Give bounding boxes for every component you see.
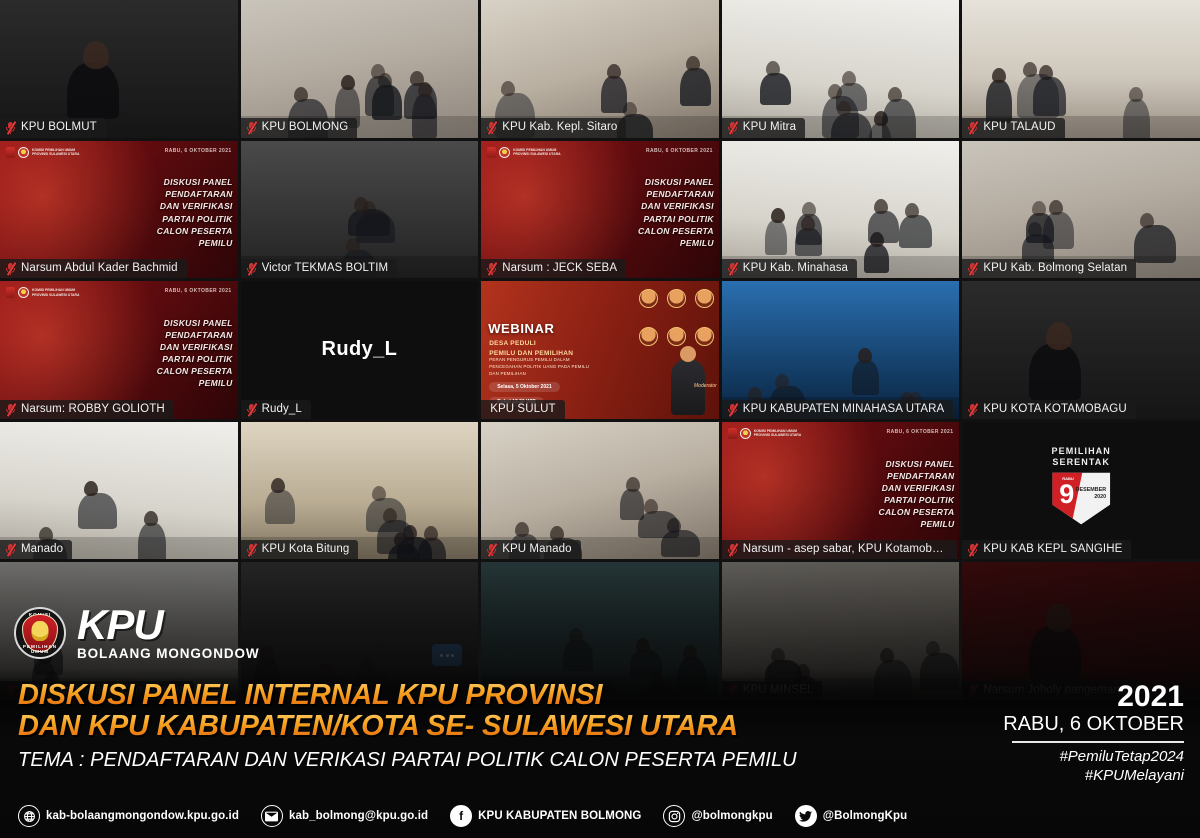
participant-name-label: KPU Manado (481, 540, 580, 559)
participant-name-label: Narsum: ROBBY GOLIOTH (0, 400, 174, 419)
participant-name-label: KPU KABUPATEN MINAHASA UTARA (722, 400, 954, 419)
banner-title-line1: DISKUSI PANEL INTERNAL KPU PROVINSI (18, 680, 797, 711)
video-frame-content (962, 0, 1200, 138)
self-view-name: Rudy_L (241, 281, 479, 419)
slide-text: DISKUSI PANELPENDAFTARANDAN VERIFIKASIPA… (845, 458, 954, 530)
video-tile[interactable]: KPU KOTA KOTAMOBAGU (962, 281, 1200, 419)
slide-date: RABU, 6 OKTOBER 2021 (887, 429, 954, 435)
video-frame-content (962, 141, 1200, 279)
participant-name-label: KPU Mitra (722, 118, 805, 137)
participant-name-label: KPU KAB KEPL SANGIHE (962, 540, 1131, 559)
video-tile[interactable]: KPU TALAUD (962, 0, 1200, 138)
video-frame-content (962, 281, 1200, 419)
video-tile[interactable]: KPU Kota Bitung (241, 422, 479, 560)
social-link-envelope[interactable]: kab_bolmong@kpu.go.id (261, 805, 428, 827)
mic-muted-icon (246, 262, 257, 275)
video-tile[interactable]: KPU BOLMUT (0, 0, 238, 138)
banner-hashtag-1: #PemiluTetap2024 (1003, 747, 1184, 766)
video-tile[interactable]: PEMILIHANSERENTAKRABU9DESEMBER2020KPU KA… (962, 422, 1200, 560)
banner-title-block: DISKUSI PANEL INTERNAL KPU PROVINSI DAN … (18, 680, 797, 772)
video-tile[interactable]: KOMISI PEMILIHAN UMUMPROVINSI SULAWESI U… (0, 141, 238, 279)
participant-name-label: KPU Kab. Minahasa (722, 259, 857, 278)
slide-date: RABU, 6 OKTOBER 2021 (165, 288, 232, 294)
video-stream: KOMISI PEMILIHAN UMUMPROVINSI SULAWESI U… (481, 141, 719, 279)
participant-name: Manado (21, 543, 63, 556)
participant-name: Narsum: ROBBY GOLIOTH (21, 403, 165, 416)
video-tile[interactable]: KPU Kab. Kepl. Sitaro (481, 0, 719, 138)
mic-muted-icon (727, 121, 738, 134)
social-link-instagram[interactable]: @bolmongkpu (663, 805, 772, 827)
video-tile[interactable]: KPU KABUPATEN MINAHASA UTARA (722, 281, 960, 419)
webinar-date-pill: Selasa, 5 Oktober 2021 (489, 382, 559, 392)
webinar-speaker-avatar (639, 289, 658, 308)
video-frame-content (481, 0, 719, 138)
facebook-icon: f (450, 805, 472, 827)
video-frame-content (722, 0, 960, 138)
webinar-speaker-avatar (695, 289, 714, 308)
participant-name: Narsum Abdul Kader Bachmid (21, 262, 178, 275)
video-tile[interactable]: KPU BOLMONG (241, 0, 479, 138)
video-frame-content (241, 0, 479, 138)
video-stream (241, 0, 479, 138)
video-stream (241, 422, 479, 560)
mic-muted-icon (246, 121, 257, 134)
participant-name: KPU BOLMONG (262, 121, 349, 134)
video-frame-content (241, 422, 479, 560)
slide-text: DISKUSI PANELPENDAFTARANDAN VERIFIKASIPA… (123, 317, 232, 389)
participant-name-label: KPU SULUT (481, 400, 564, 419)
video-tile[interactable]: KPU Mitra (722, 0, 960, 138)
participant-name-label: Manado (0, 540, 72, 559)
video-tile[interactable]: KPU Manado (481, 422, 719, 560)
mic-muted-icon (967, 543, 978, 556)
video-tile[interactable]: KOMISI PEMILIHAN UMUMPROVINSI SULAWESI U… (481, 141, 719, 279)
video-stream (0, 422, 238, 560)
video-frame-content (722, 281, 960, 419)
banner-day-date: RABU, 6 OKTOBER (1003, 713, 1184, 736)
banner-theme: TEMA : PENDAFTARAN DAN VERIKASI PARTAI P… (18, 749, 797, 772)
webinar-host-label: Moderator (694, 383, 717, 389)
slide-date: RABU, 6 OKTOBER 2021 (165, 148, 232, 154)
mic-muted-icon (727, 262, 738, 275)
video-stream (722, 0, 960, 138)
mic-muted-icon (486, 121, 497, 134)
emblem-bottom-text: PEMILIHAN UMUM (16, 644, 64, 654)
social-handle: KPU KABUPATEN BOLMONG (478, 810, 641, 822)
video-stream (481, 0, 719, 138)
webinar-subtitle: DESA PEDULIPEMILU DAN PEMILIHAN (489, 339, 573, 359)
mic-muted-icon (727, 543, 738, 556)
participant-name: KPU Kota Bitung (262, 543, 350, 556)
participant-name-label: Victor TEKMAS BOLTIM (241, 259, 398, 278)
video-stream (481, 422, 719, 560)
webinar-speaker-avatar (667, 289, 686, 308)
participant-name-label: KPU Kota Bitung (241, 540, 359, 559)
mic-muted-icon (967, 121, 978, 134)
video-tile[interactable]: KOMISI PEMILIHAN UMUMPROVINSI SULAWESI U… (722, 422, 960, 560)
participant-name-label: Narsum - asep sabar, KPU Kotamoba… (722, 540, 957, 559)
mic-muted-icon (5, 543, 16, 556)
video-frame-content (0, 0, 238, 138)
video-stream: KOMISI PEMILIHAN UMUMPROVINSI SULAWESI U… (0, 281, 238, 419)
participant-name-label: KPU KOTA KOTAMOBAGU (962, 400, 1135, 419)
kpu-region-text: BOLAANG MONGONDOW (77, 646, 260, 661)
slide-kpu-logo-icon: KOMISI PEMILIHAN UMUMPROVINSI SULAWESI U… (6, 287, 79, 298)
video-frame-content (722, 141, 960, 279)
serentak-shield-icon: RABU9DESEMBER2020 (1052, 472, 1110, 524)
envelope-icon (261, 805, 283, 827)
participant-name-label: KPU Kab. Kepl. Sitaro (481, 118, 626, 137)
social-link-globe[interactable]: kab-bolaangmongondow.kpu.go.id (18, 805, 239, 827)
mic-muted-icon (486, 543, 497, 556)
video-stream (962, 0, 1200, 138)
participant-name-label: Narsum : JECK SEBA (481, 259, 626, 278)
participant-name-label: KPU TALAUD (962, 118, 1064, 137)
participant-name: Victor TEKMAS BOLTIM (262, 262, 389, 275)
serentak-caption: PEMILIHANSERENTAK (1051, 446, 1110, 469)
kpu-emblem-icon: KOMISI PEMILIHAN UMUM (14, 607, 66, 659)
video-stream (241, 141, 479, 279)
mic-muted-icon (727, 403, 738, 416)
banner-hashtag-2: #KPUMelayani (1003, 766, 1184, 785)
video-stream: KOMISI PEMILIHAN UMUMPROVINSI SULAWESI U… (0, 141, 238, 279)
slide-kpu-logo-icon: KOMISI PEMILIHAN UMUMPROVINSI SULAWESI U… (6, 147, 79, 158)
social-handle: @BolmongKpu (823, 810, 908, 822)
slide-text: DISKUSI PANELPENDAFTARANDAN VERIFIKASIPA… (605, 176, 714, 248)
participant-name: KPU BOLMUT (21, 121, 97, 134)
video-frame-content (241, 141, 479, 279)
mic-muted-icon (5, 262, 16, 275)
banner-date-block: 2021 RABU, 6 OKTOBER #PemiluTetap2024 #K… (1003, 682, 1184, 785)
mic-muted-icon (5, 403, 16, 416)
participant-name: KPU Kab. Kepl. Sitaro (502, 121, 617, 134)
participant-name: KPU Kab. Minahasa (743, 262, 848, 275)
participant-name-label: Rudy_L (241, 400, 311, 419)
mic-muted-icon (246, 403, 257, 416)
pemilihan-serentak-badge: PEMILIHANSERENTAKRABU9DESEMBER2020 (1051, 446, 1110, 525)
mic-muted-icon (967, 403, 978, 416)
webinar-speaker-avatar (695, 327, 714, 346)
video-tile[interactable]: KPU Kab. Minahasa (722, 141, 960, 279)
participant-name: KPU KOTA KOTAMOBAGU (983, 403, 1126, 416)
video-stream (962, 141, 1200, 279)
participant-name: KPU KAB KEPL SANGIHE (983, 543, 1122, 556)
social-link-facebook[interactable]: fKPU KABUPATEN BOLMONG (450, 805, 641, 827)
social-links-row: kab-bolaangmongondow.kpu.go.idkab_bolmon… (18, 805, 907, 827)
video-stream: PEMILIHANSERENTAKRABU9DESEMBER2020 (962, 422, 1200, 560)
video-tile-active-speaker[interactable]: WEBINARDESA PEDULIPEMILU DAN PEMILIHANPE… (481, 281, 719, 419)
video-grid: KPU BOLMUTKPU BOLMONGKPU Kab. Kepl. Sita… (0, 0, 1200, 700)
video-stream: KOMISI PEMILIHAN UMUMPROVINSI SULAWESI U… (722, 422, 960, 560)
banner-title-line2: DAN KPU KABUPATEN/KOTA SE- SULAWESI UTAR… (18, 711, 797, 742)
mic-muted-icon (967, 262, 978, 275)
kpu-wordmark-text: KPU (77, 606, 260, 645)
participant-name: KPU Kab. Bolmong Selatan (983, 262, 1127, 275)
instagram-icon (663, 805, 685, 827)
social-handle: kab_bolmong@kpu.go.id (289, 810, 428, 822)
social-handle: @bolmongkpu (691, 810, 772, 822)
video-stream: WEBINARDESA PEDULIPEMILU DAN PEMILIHANPE… (481, 281, 719, 419)
event-banner: KOMISI PEMILIHAN UMUM KPU BOLAANG MONGON… (0, 668, 1200, 838)
video-tile[interactable]: Victor TEKMAS BOLTIM (241, 141, 479, 279)
divider (1012, 741, 1184, 743)
participant-name: KPU Manado (502, 543, 571, 556)
webinar-slide: WEBINARDESA PEDULIPEMILU DAN PEMILIHANPE… (481, 281, 719, 419)
video-frame-content (0, 422, 238, 560)
zoom-gallery-screenshot: KPU BOLMUTKPU BOLMONGKPU Kab. Kepl. Sita… (0, 0, 1200, 838)
globe-icon (18, 805, 40, 827)
kpu-logo-block: KOMISI PEMILIHAN UMUM KPU BOLAANG MONGON… (14, 606, 260, 661)
webinar-speaker-avatar (639, 327, 658, 346)
slide-date: RABU, 6 OKTOBER 2021 (646, 148, 713, 154)
participant-name: KPU KABUPATEN MINAHASA UTARA (743, 403, 945, 416)
participant-name: Narsum - asep sabar, KPU Kotamoba… (743, 543, 948, 556)
mic-muted-icon (5, 121, 16, 134)
participant-name-label: KPU BOLMONG (241, 118, 358, 137)
mic-muted-icon (246, 543, 257, 556)
slide-text: DISKUSI PANELPENDAFTARANDAN VERIFIKASIPA… (123, 176, 232, 248)
banner-year: 2021 (1003, 682, 1184, 712)
participant-name: KPU Mitra (743, 121, 796, 134)
video-frame-content (481, 422, 719, 560)
video-tile[interactable]: Manado (0, 422, 238, 560)
slide-kpu-logo-icon: KOMISI PEMILIHAN UMUMPROVINSI SULAWESI U… (728, 428, 801, 439)
video-tile[interactable]: Rudy_LRudy_L (241, 281, 479, 419)
social-link-twitter[interactable]: @BolmongKpu (795, 805, 908, 827)
video-tile[interactable]: KOMISI PEMILIHAN UMUMPROVINSI SULAWESI U… (0, 281, 238, 419)
kpu-wordmark: KPU BOLAANG MONGONDOW (77, 606, 260, 661)
video-tile[interactable]: KPU Kab. Bolmong Selatan (962, 141, 1200, 279)
participant-name: Narsum : JECK SEBA (502, 262, 617, 275)
webinar-description: PERAN PENGURUS PEMILU DALAMPENCEGAHAN PO… (489, 357, 589, 377)
video-stream (0, 0, 238, 138)
webinar-title: WEBINAR (488, 321, 554, 336)
more-options-button[interactable] (432, 644, 462, 666)
mic-muted-icon (486, 262, 497, 275)
social-handle: kab-bolaangmongondow.kpu.go.id (46, 810, 239, 822)
participant-name: Rudy_L (262, 403, 302, 416)
video-stream (722, 141, 960, 279)
participant-name-label: KPU Kab. Bolmong Selatan (962, 259, 1136, 278)
participant-name-label: Narsum Abdul Kader Bachmid (0, 259, 187, 278)
participant-name: KPU SULUT (490, 403, 555, 416)
participant-name-label: KPU BOLMUT (0, 118, 106, 137)
video-stream: Rudy_L (241, 281, 479, 419)
slide-kpu-logo-icon: KOMISI PEMILIHAN UMUMPROVINSI SULAWESI U… (487, 147, 560, 158)
video-stream (722, 281, 960, 419)
twitter-icon (795, 805, 817, 827)
participant-name: KPU TALAUD (983, 121, 1055, 134)
webinar-speaker-avatar (667, 327, 686, 346)
video-stream (962, 281, 1200, 419)
